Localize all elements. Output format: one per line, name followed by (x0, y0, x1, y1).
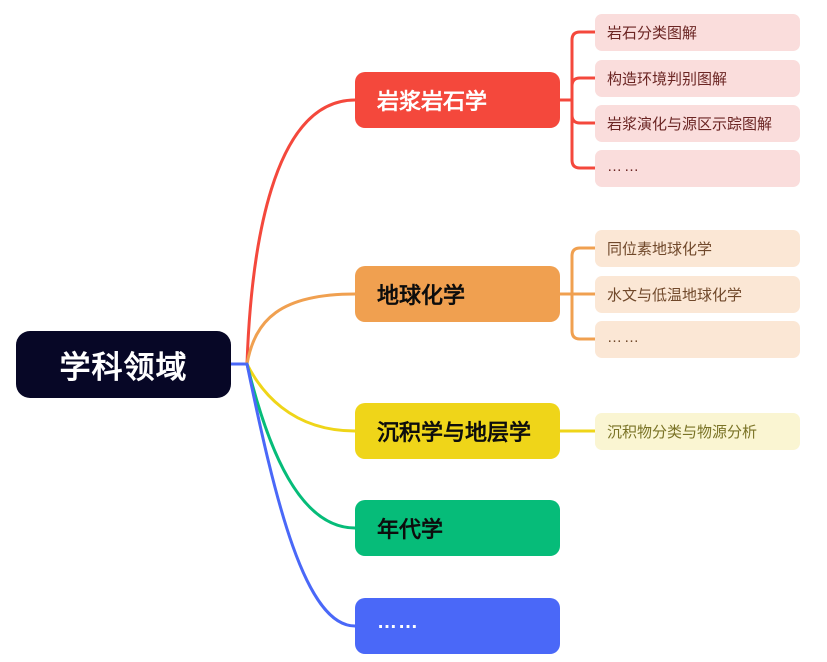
branch-node-geochronology[interactable]: 年代学 (355, 500, 560, 556)
connector-leaf-0-1 (572, 78, 595, 100)
connector-branch-0 (247, 100, 355, 364)
branch-node-label: 地球化学 (377, 278, 465, 310)
connector-leaf-0-2 (572, 100, 595, 123)
branch-node-geochemistry[interactable]: 地球化学 (355, 266, 560, 322)
branch-node-sedimentology[interactable]: 沉积学与地层学 (355, 403, 560, 459)
branch-node-label: 岩浆岩石学 (377, 84, 487, 116)
connector-branch-1 (247, 294, 355, 364)
leaf-node-label: 水文与低温地球化学 (607, 284, 742, 305)
leaf-node[interactable]: …… (595, 150, 800, 187)
leaf-node-label: 同位素地球化学 (607, 238, 712, 259)
leaf-node-label: 岩石分类图解 (607, 22, 697, 43)
leaf-node[interactable]: 同位素地球化学 (595, 230, 800, 267)
leaf-node[interactable]: 岩石分类图解 (595, 14, 800, 51)
branch-node-label: …… (377, 611, 419, 634)
leaf-node[interactable]: 沉积物分类与物源分析 (595, 413, 800, 450)
connector-leaf-0-3 (572, 100, 595, 168)
branch-node-petrology[interactable]: 岩浆岩石学 (355, 72, 560, 128)
root-node-label: 学科领域 (60, 342, 188, 387)
leaf-node-label: 岩浆演化与源区示踪图解 (607, 113, 772, 134)
leaf-node-label: 构造环境判别图解 (607, 68, 727, 89)
branch-node-label: 年代学 (377, 512, 443, 544)
leaf-node-label: …… (607, 329, 641, 346)
leaf-node-label: …… (607, 158, 641, 175)
leaf-node[interactable]: 水文与低温地球化学 (595, 276, 800, 313)
leaf-node[interactable]: …… (595, 321, 800, 358)
connector-leaf-1-2 (572, 294, 595, 339)
connector-branch-3 (247, 364, 355, 528)
connector-branch-2 (247, 364, 355, 431)
connector-branch-4 (247, 364, 355, 626)
root-node[interactable]: 学科领域 (16, 331, 231, 398)
leaf-node[interactable]: 岩浆演化与源区示踪图解 (595, 105, 800, 142)
connector-leaf-1-0 (572, 248, 595, 294)
leaf-node[interactable]: 构造环境判别图解 (595, 60, 800, 97)
branch-node-more[interactable]: …… (355, 598, 560, 654)
leaf-node-label: 沉积物分类与物源分析 (607, 421, 757, 442)
mind-map-canvas: 学科领域 岩浆岩石学 岩石分类图解 构造环境判别图解 岩浆演化与源区示踪图解 …… (0, 0, 827, 662)
branch-node-label: 沉积学与地层学 (377, 415, 531, 447)
connector-leaf-0-0 (572, 32, 595, 100)
